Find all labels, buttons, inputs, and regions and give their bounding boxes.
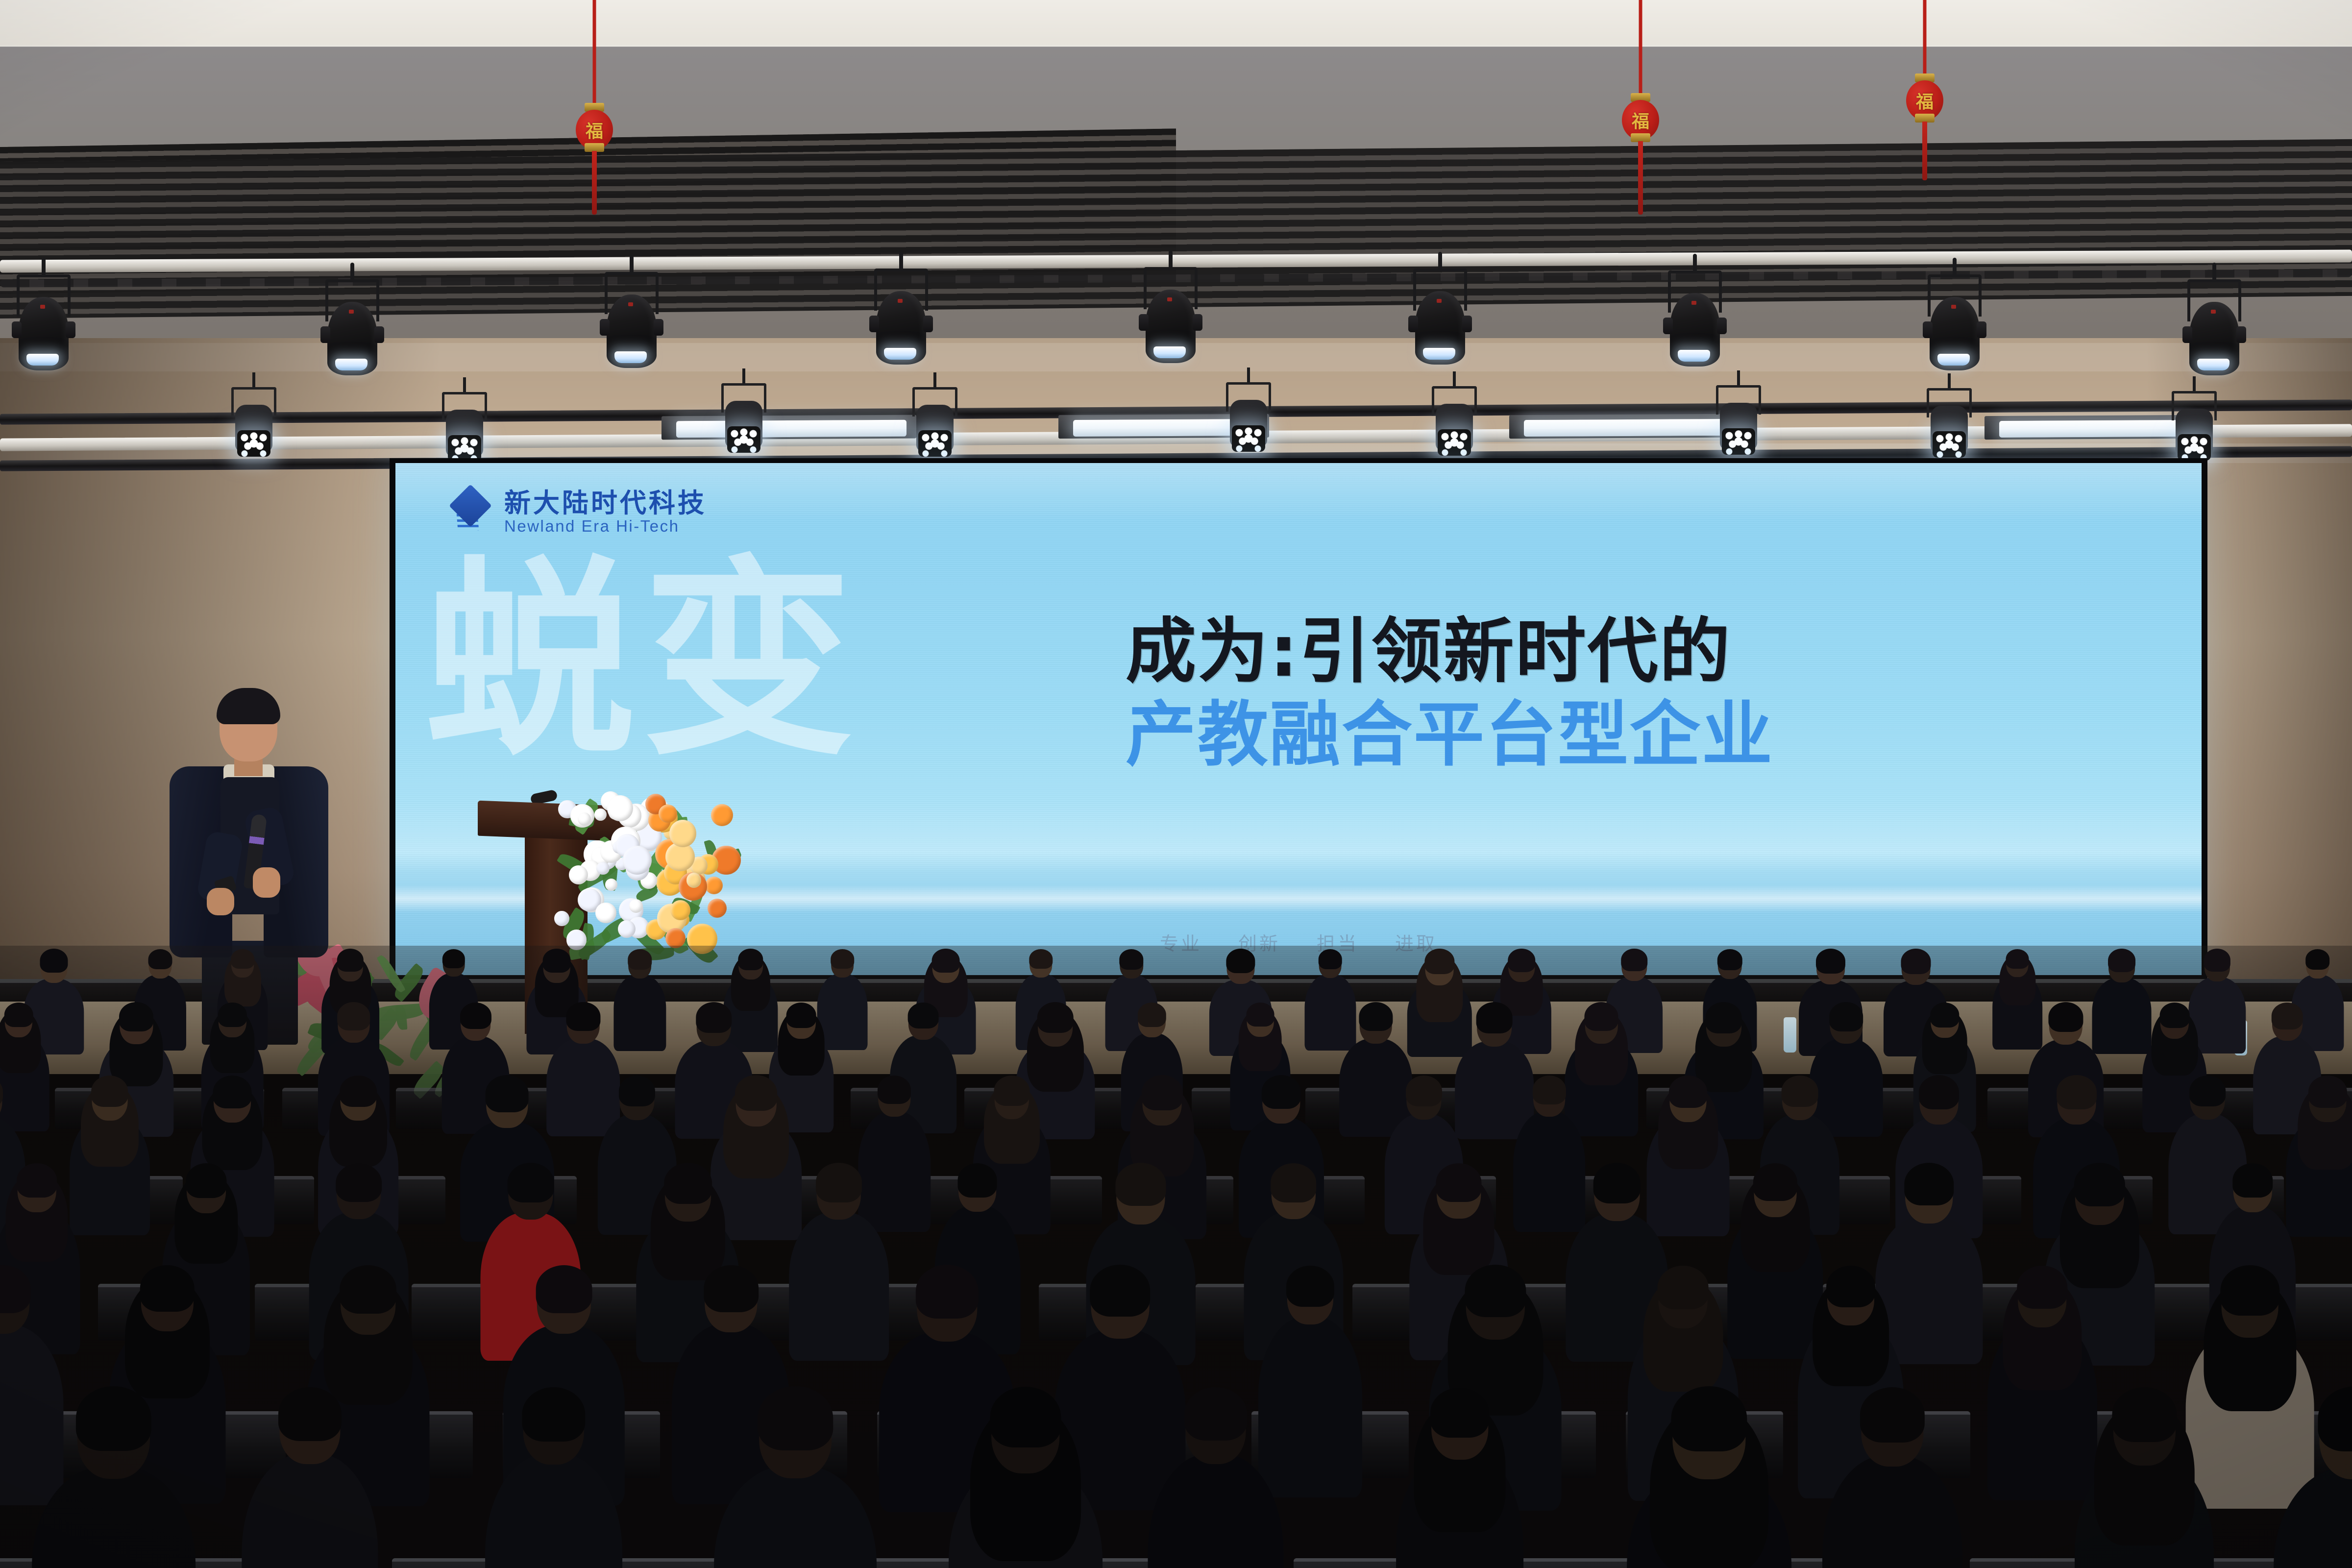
bouquet-flower: [578, 812, 591, 826]
audience-member-hair-top: [278, 1387, 341, 1441]
led-par-can-icon: [1225, 382, 1272, 456]
audience-member-hair-top: [460, 1003, 491, 1029]
audience-member-hair-top: [485, 1075, 529, 1112]
slide-watermark-text: 蜕变: [425, 561, 860, 761]
audience-member: [70, 1078, 150, 1245]
moving-head-spotlight-icon: [1142, 267, 1200, 365]
audience-member-hair-top: [786, 1003, 816, 1028]
audience-member-hair-top: [119, 1002, 153, 1031]
led-par-can-icon: [911, 387, 958, 461]
audience-member-hair-top: [758, 1386, 833, 1450]
audience-member-hair-top: [619, 1076, 655, 1106]
audience-member-hair-top: [1669, 1076, 1707, 1108]
audience-member-hair-top: [738, 949, 763, 970]
audience-member-hair-top: [1319, 949, 1343, 969]
audience-member-hair-top: [218, 1003, 246, 1027]
audience-member-hair-top: [186, 1163, 226, 1198]
audience-member-hair-top: [878, 1076, 911, 1104]
water-bottle: [1784, 1017, 1796, 1053]
audience-member-hair-top: [994, 1076, 1029, 1106]
audience-member-hair-top: [4, 1003, 33, 1027]
audience-member-hair-top: [628, 949, 652, 970]
audience-member-hair-top: [336, 1163, 382, 1202]
audience-member-hair-top: [508, 1163, 554, 1202]
audience-member: [1396, 1392, 1523, 1568]
fluorescent-tube-3: [1524, 419, 1725, 437]
audience-member-hair-top: [2159, 1003, 2189, 1028]
diamond-layers-icon: [448, 489, 493, 536]
audience-member-hair-top: [1424, 949, 1454, 974]
bouquet-flower: [554, 911, 569, 926]
audience-member: [2075, 1392, 2214, 1568]
audience-member-hair-top: [831, 949, 854, 969]
audience-member: [714, 1392, 877, 1568]
led-par-can-icon: [1431, 386, 1478, 460]
audience-member-hair-top: [1533, 1076, 1566, 1104]
ceiling-seam: [0, 45, 2352, 47]
headline-line-2: 产教融合平台型企业: [1126, 693, 1774, 777]
audience-member-hair-top: [1115, 1163, 1166, 1206]
bouquet-flower: [705, 877, 723, 894]
audience-member-torso: [613, 975, 666, 1051]
led-par-can-icon: [1926, 388, 1973, 462]
audience-member-hair-top: [932, 949, 960, 972]
audience-member-hair-top: [1829, 1002, 1863, 1031]
led-par-can-icon: [441, 392, 488, 465]
audience-member-hair-top: [1119, 949, 1143, 970]
bouquet-flower: [708, 899, 727, 918]
moving-head-spotlight-icon: [15, 274, 73, 372]
bouquet-flower: [595, 903, 616, 924]
audience-member: [949, 1392, 1102, 1568]
audience-member-torso: [1148, 1454, 1284, 1568]
audience-member-hair-top: [2074, 1163, 2125, 1206]
audience-member: [1148, 1392, 1284, 1568]
audience-member-hair-top: [1860, 1387, 1925, 1443]
audience-member-hair-top: [2305, 949, 2330, 970]
moving-head-spotlight-icon: [872, 269, 930, 367]
audience-member-hair-top: [148, 949, 172, 970]
audience-member-hair-top: [1226, 949, 1255, 974]
audience-member-hair-top: [1671, 1386, 1747, 1451]
audience-member-hair-top: [1508, 949, 1536, 972]
audience-member-hair-top: [2272, 1003, 2303, 1029]
audience-member-hair-top: [1901, 949, 1931, 974]
audience-member-hair-top: [0, 1265, 31, 1313]
audience-member-hair-top: [908, 1003, 939, 1029]
bouquet-flower: [665, 928, 686, 948]
moving-head-spotlight-icon: [323, 279, 381, 377]
audience-member-hair-top: [2308, 1076, 2347, 1108]
audience-member-hair-top: [1658, 1266, 1709, 1309]
fluorescent-tube-4: [1999, 420, 2185, 438]
bouquet-flower: [669, 820, 696, 847]
ceiling-soffit: [0, 0, 2352, 51]
audience-member: [1627, 1392, 1791, 1568]
audience-member-hair-top: [1138, 1003, 1166, 1027]
audience-member: [2274, 1392, 2352, 1568]
audience-member-hair-top: [340, 1265, 396, 1314]
audience-member-hair-top: [1585, 1002, 1618, 1031]
audience-member-hair-top: [566, 1002, 600, 1031]
headline-line-1: 成为:引领新时代的: [1126, 610, 1774, 693]
audience-member-hair-top: [1090, 1265, 1150, 1316]
company-logo: 新大陆时代科技 Newland Era Hi-Tech: [448, 489, 707, 536]
audience-member-hair-top: [213, 1076, 252, 1108]
audience-member: [2286, 1078, 2352, 1245]
audience-member-hair-top: [2112, 1387, 2177, 1442]
bouquet-flower: [659, 805, 677, 823]
audience-member-hair-top: [1904, 1163, 1954, 1205]
audience-area: [0, 946, 2352, 1568]
audience-member-hair-top: [1476, 1002, 1513, 1033]
audience-member-hair-top: [2318, 1386, 2352, 1451]
audience-member-hair-top: [1782, 1076, 1818, 1107]
audience-member: [485, 1392, 622, 1568]
bouquet-flower: [623, 846, 652, 875]
audience-member-hair-top: [1593, 1163, 1641, 1203]
audience-member-hair-top: [1826, 1266, 1875, 1307]
audience-member-hair-top: [1465, 1265, 1526, 1317]
moving-head-spotlight-icon: [1666, 270, 1724, 368]
logo-name-en: Newland Era Hi-Tech: [504, 518, 707, 534]
audience-member-hair-top: [1705, 1002, 1742, 1033]
audience-member: [1822, 1392, 1962, 1568]
bouquet-flower: [686, 873, 702, 888]
audience-member-hair-top: [1406, 1076, 1442, 1106]
audience-member: [32, 1392, 196, 1568]
bouquet-flower: [569, 865, 588, 884]
audience-member-hair-top: [2006, 949, 2029, 969]
audience-member-hair-top: [91, 1076, 128, 1107]
bouquet-flower: [594, 808, 607, 821]
audience-member-hair-top: [536, 1265, 592, 1313]
audience-member-hair-top: [40, 949, 68, 973]
audience-member-hair-top: [2048, 1002, 2083, 1032]
audience-member-hair-top: [17, 1163, 57, 1198]
audience-member-torso: [1822, 1456, 1962, 1568]
audience-member-hair-top: [1029, 949, 1052, 969]
bouquet-flower: [629, 899, 643, 913]
logo-name-cn: 新大陆时代科技: [504, 490, 707, 516]
audience-member-hair-top: [543, 949, 571, 973]
audience-member-hair-top: [1430, 1388, 1489, 1438]
audience-member-hair-top: [1262, 1075, 1301, 1109]
moving-head-spotlight-icon: [1926, 274, 1984, 372]
audience-member-hair-top: [957, 1163, 997, 1197]
led-par-can-icon: [1715, 385, 1762, 459]
audience-member-hair-top: [1717, 949, 1742, 970]
audience-member-hair-top: [2057, 1075, 2097, 1109]
audience-member-hair-top: [337, 949, 364, 971]
audience-member-hair-top: [2017, 1266, 2068, 1309]
audience-member-hair-top: [340, 1076, 377, 1107]
audience-member-hair-top: [1037, 1002, 1074, 1033]
moving-head-spotlight-icon: [2185, 279, 2243, 377]
audience-member-torso: [32, 1467, 196, 1568]
audience-member-hair-top: [2108, 949, 2135, 972]
audience-member-torso: [714, 1466, 877, 1568]
audience-member: [242, 1392, 378, 1568]
audience-member-hair-top: [816, 1163, 862, 1202]
conference-hall-scene: 福福福 新大陆时代科技 Newland Era Hi-Tech: [0, 0, 2352, 1568]
audience-member-hair-top: [140, 1265, 194, 1311]
led-par-can-icon: [720, 383, 767, 457]
audience-member-torso: [789, 1212, 889, 1360]
audience-member-hair-top: [704, 1265, 759, 1312]
audience-member: [789, 1166, 889, 1367]
audience-member-hair-top: [1246, 1003, 1274, 1027]
audience-member-hair-top: [2190, 1076, 2226, 1106]
audience-member-hair-top: [735, 1075, 777, 1111]
bouquet-flower: [607, 795, 633, 821]
led-par-can-icon: [230, 387, 277, 461]
audience-member-hair-top: [696, 1002, 732, 1033]
led-par-can-icon: [2171, 391, 2218, 465]
bouquet-flower: [711, 804, 733, 826]
audience-member-hair-top: [990, 1387, 1061, 1447]
bouquet-flower: [596, 862, 609, 875]
audience-member-torso: [2274, 1467, 2352, 1568]
audience-member-hair-top: [1753, 1163, 1797, 1201]
audience-member-hair-top: [1816, 949, 1845, 974]
audience-member-hair-top: [664, 1163, 712, 1203]
audience-member-hair-top: [76, 1386, 151, 1451]
audience-member-hair-top: [442, 949, 465, 969]
audience-member-hair-top: [522, 1387, 585, 1441]
bouquet-flower: [605, 879, 617, 891]
audience-member-hair-top: [1621, 949, 1648, 971]
audience-member-torso: [242, 1454, 378, 1568]
audience-member-hair-top: [1930, 1003, 1959, 1028]
moving-head-spotlight-icon: [1411, 269, 1469, 367]
audience-member-hair-top: [2220, 1265, 2279, 1316]
bouquet-flower: [618, 920, 636, 938]
audience-member-hair-top: [231, 949, 255, 969]
audience-member-hair-top: [1919, 1075, 1959, 1109]
audience-member-hair-top: [1436, 1163, 1482, 1202]
audience-member-hair-top: [1271, 1163, 1317, 1202]
audience-member: [613, 951, 666, 1063]
audience-member-hair-top: [1359, 1002, 1393, 1031]
fluorescent-tube-1: [676, 420, 906, 438]
audience-member-hair-top: [1184, 1387, 1247, 1441]
audience-member-hair-top: [337, 1002, 370, 1030]
audience-member-hair-top: [1141, 1075, 1182, 1110]
audience-member-hair-top: [2204, 949, 2230, 971]
audience-member-torso: [485, 1454, 622, 1568]
audience-member-hair-top: [916, 1265, 979, 1319]
slide-headline: 成为:引领新时代的 产教融合平台型企业: [1126, 610, 1774, 777]
moving-head-spotlight-icon: [603, 272, 661, 370]
audience-member-hair-top: [2233, 1163, 2273, 1198]
audience-member-hair-top: [1286, 1266, 1334, 1307]
